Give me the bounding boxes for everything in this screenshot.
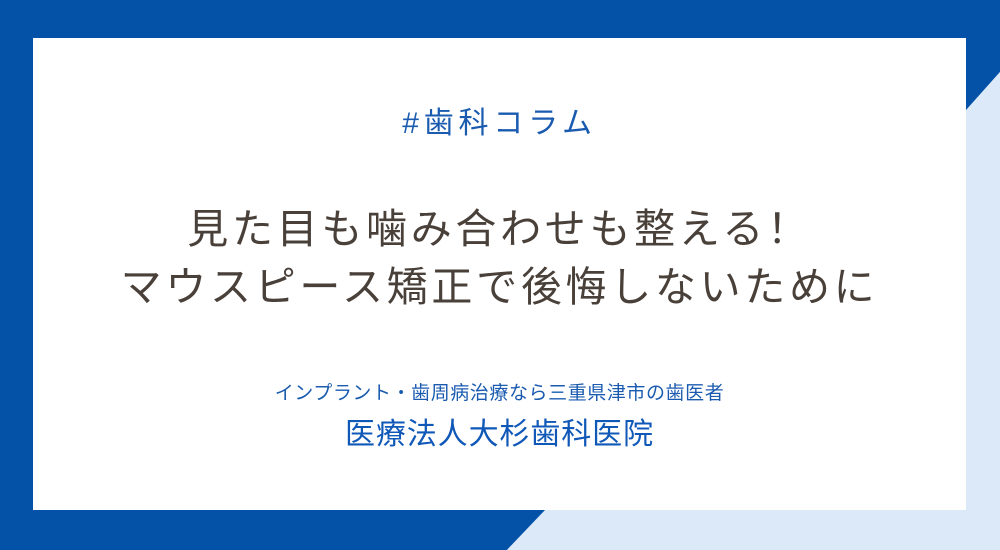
decorative-top-bar bbox=[0, 0, 1000, 38]
category-hashtag: #歯科コラム bbox=[402, 98, 597, 142]
clinic-tagline: インプラント・歯周病治療なら三重県津市の歯医者 bbox=[275, 380, 725, 409]
article-title-line-2: マウスピース矯正で後悔しないために bbox=[121, 258, 879, 316]
decorative-bottom-bar bbox=[0, 510, 545, 550]
content-card: #歯科コラム 見た目も噛み合わせも整える！ マウスピース矯正で後悔しないために … bbox=[33, 38, 966, 510]
clinic-name: 医療法人大杉歯科医院 bbox=[275, 415, 725, 454]
clinic-credit: インプラント・歯周病治療なら三重県津市の歯医者 医療法人大杉歯科医院 bbox=[275, 380, 725, 454]
article-title: 見た目も噛み合わせも整える！ マウスピース矯正で後悔しないために bbox=[121, 200, 879, 316]
banner-canvas: #歯科コラム 見た目も噛み合わせも整える！ マウスピース矯正で後悔しないために … bbox=[0, 0, 1000, 550]
decorative-left-bar bbox=[0, 0, 33, 550]
decorative-bottom-light-panel bbox=[480, 510, 1000, 550]
article-title-line-1: 見た目も噛み合わせも整える！ bbox=[121, 200, 879, 258]
